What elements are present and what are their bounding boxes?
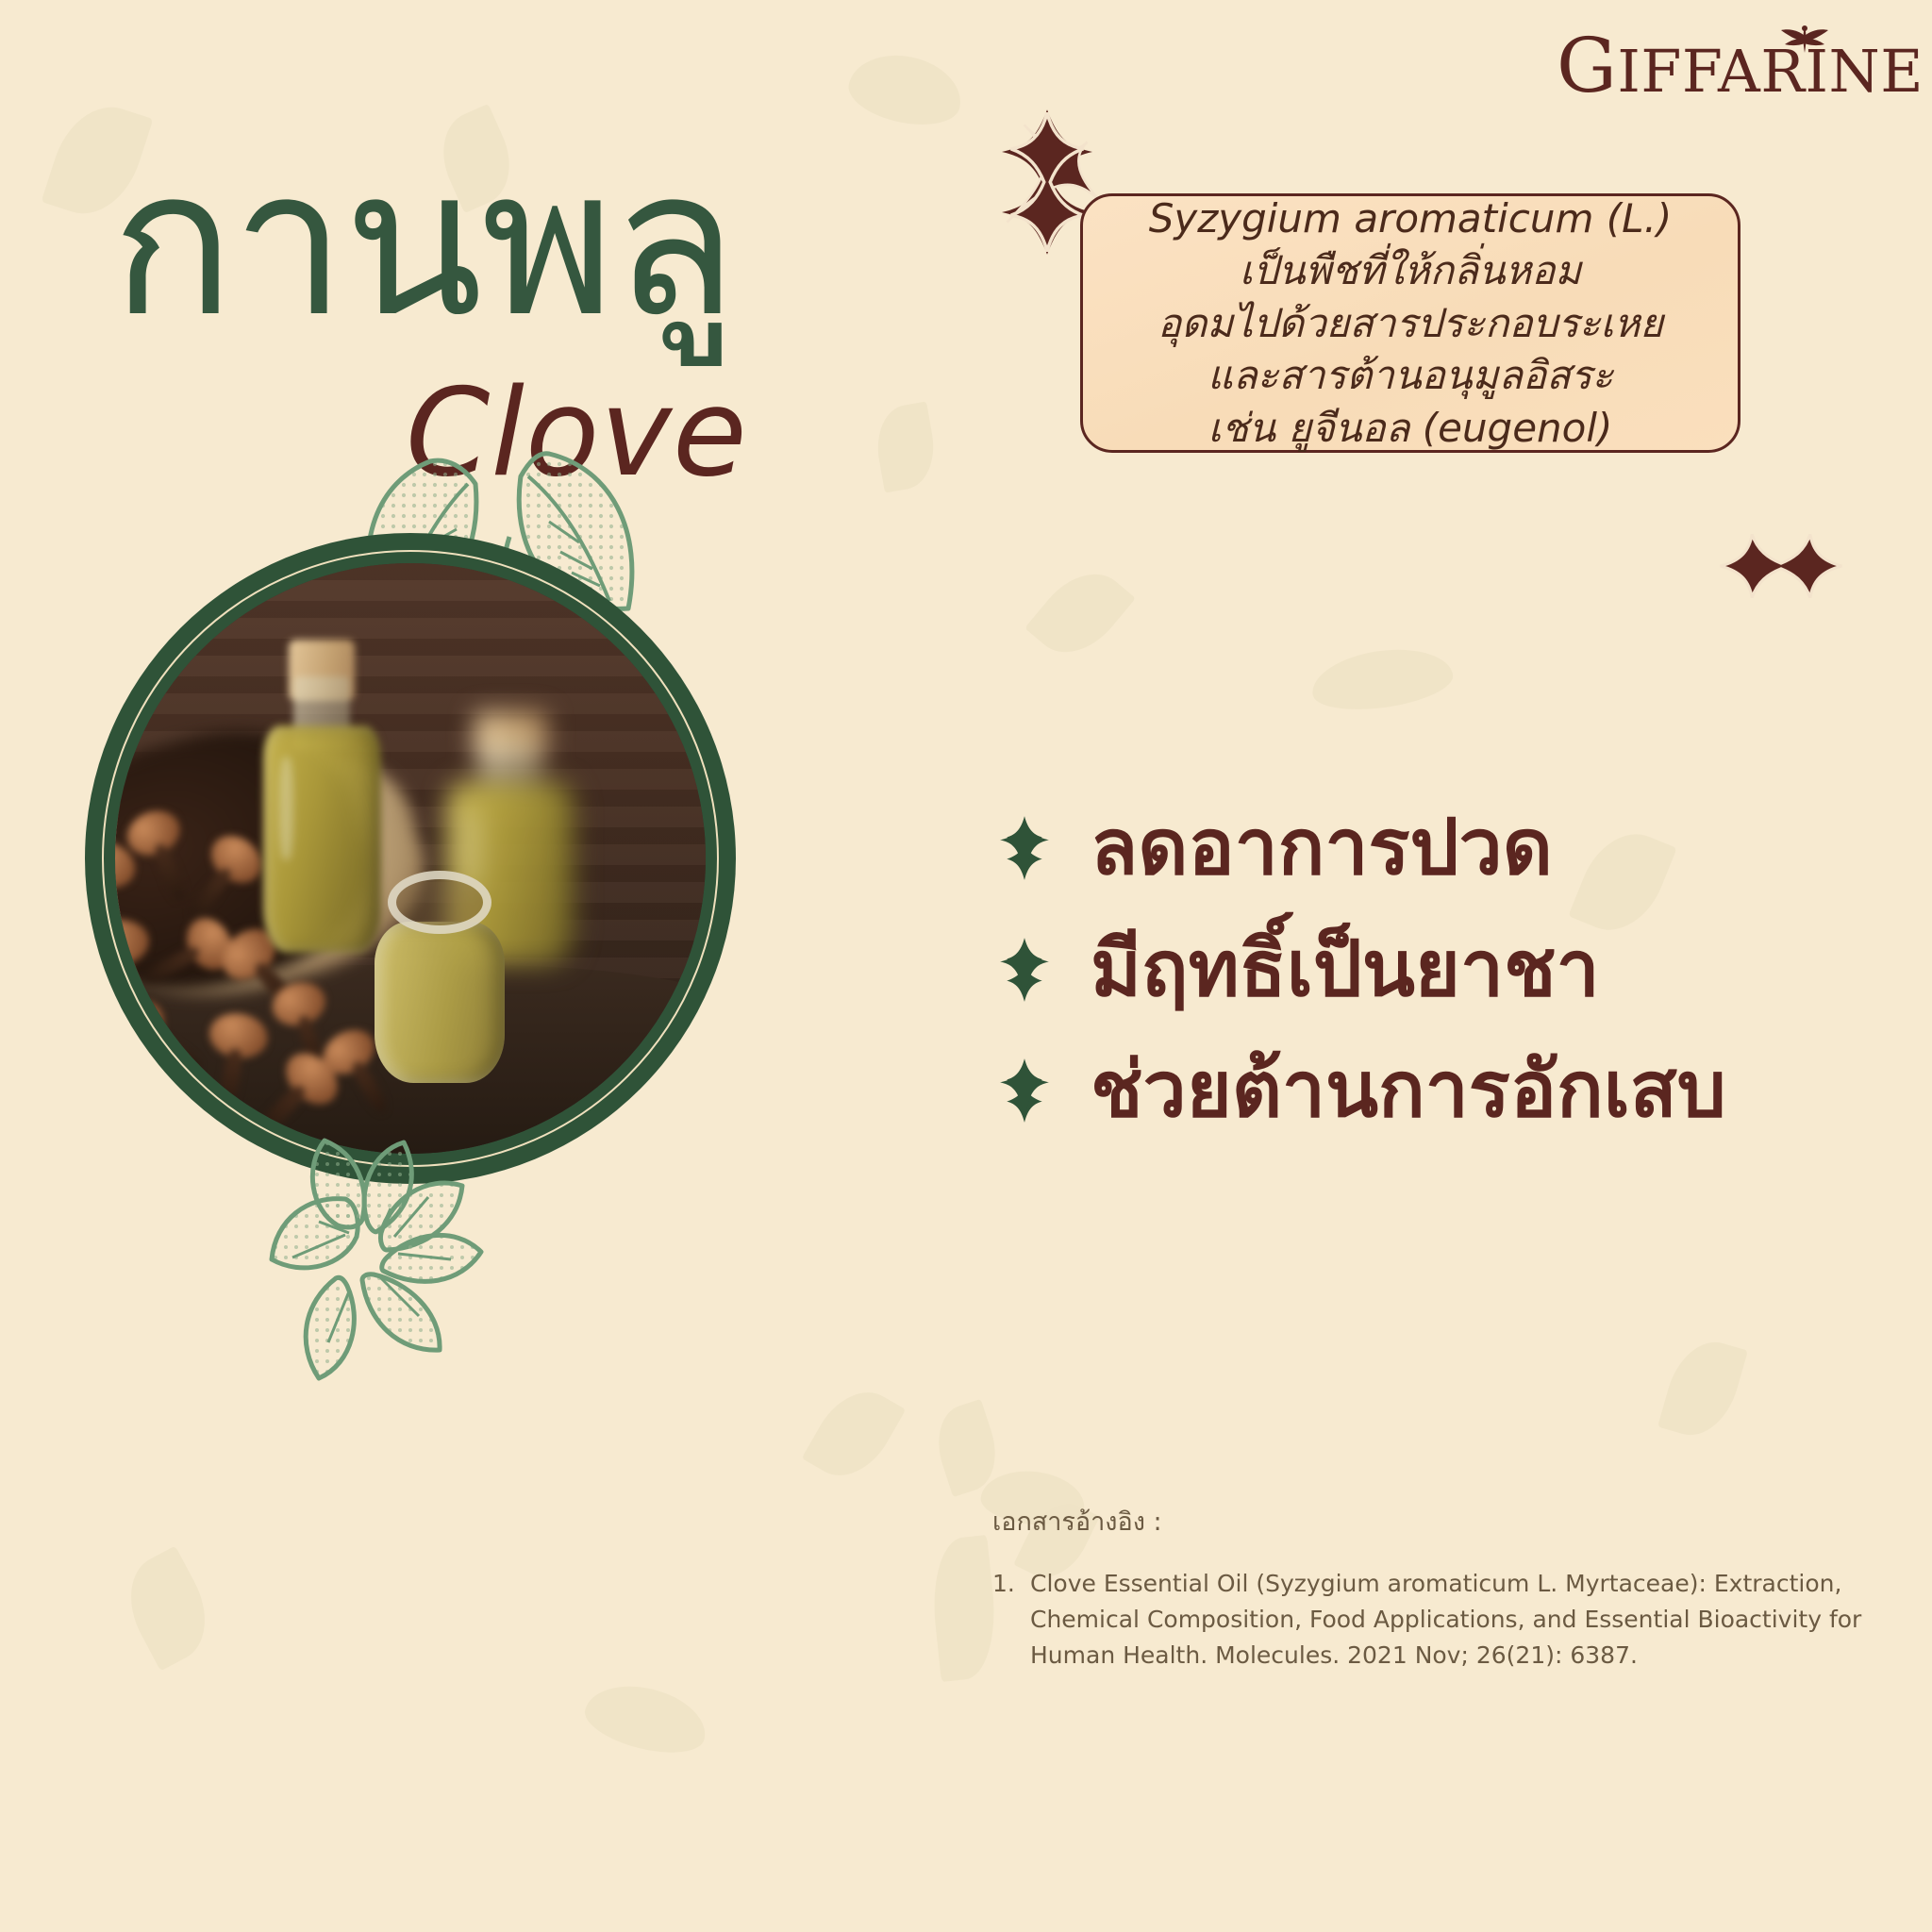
quatrefoil-bullet-icon [991, 1057, 1058, 1124]
benefits-list: ลดอาการปวด มีฤทธิ์เป็นยาชา ช่วยต้านการอั… [991, 807, 1877, 1171]
brand-name-initial: G [1557, 22, 1617, 109]
description-line-5: เช่น ยูจีนอล (eugenol) [1149, 402, 1673, 454]
quatrefoil-ornament-bottom-right [1715, 500, 1847, 632]
references-heading: เอกสารอ้างอิง : [992, 1507, 1898, 1538]
quatrefoil-bullet-icon [991, 936, 1058, 1004]
brand-name-rest: IFFARINE [1617, 37, 1924, 106]
brand-logo: GIFFARINE [1557, 28, 1877, 104]
page-title-thai: กานพลู [111, 142, 735, 344]
reference-number: 1. [992, 1566, 1030, 1674]
description-line-1: Syzygium aromaticum (L.) [1149, 192, 1673, 244]
benefit-label-3: ช่วยต้านการอักเสบ [1091, 1049, 1726, 1133]
benefit-label-1: ลดอาการปวด [1091, 807, 1553, 891]
benefit-item-1: ลดอาการปวด [991, 807, 1877, 891]
clove-flower-line-art [168, 1108, 574, 1391]
oil-jar-front [375, 871, 505, 1083]
benefit-item-2: มีฤทธิ์เป็นยาชา [991, 928, 1877, 1012]
description-panel: Syzygium aromaticum (L.) เป็นพืชที่ให้กล… [1080, 193, 1740, 453]
reference-item: 1. Clove Essential Oil (Syzygium aromati… [992, 1566, 1898, 1674]
infographic-canvas: GIFFARINE กานพลู Clove Syzygium aromatic… [0, 0, 1932, 1932]
description-line-3: อุดมไปด้วยสารประกอบระเหย [1149, 297, 1673, 349]
brand-name: GIFFARINE [1557, 28, 1924, 104]
oil-bottle-main [263, 646, 381, 954]
reference-text: Clove Essential Oil (Syzygium aromaticum… [1030, 1566, 1898, 1674]
benefit-item-3: ช่วยต้านการอักเสบ [991, 1049, 1877, 1133]
quatrefoil-bullet-icon [991, 814, 1058, 882]
description-line-2: เป็นพืชที่ให้กลิ่นหอม [1149, 244, 1673, 296]
benefit-label-2: มีฤทธิ์เป็นยาชา [1091, 928, 1600, 1012]
product-photo [115, 563, 706, 1154]
description-line-4: และสารต้านอนุมูลอิสระ [1149, 349, 1673, 401]
references-section: เอกสารอ้างอิง : 1. Clove Essential Oil (… [992, 1507, 1898, 1674]
description-text: Syzygium aromaticum (L.) เป็นพืชที่ให้กล… [1124, 192, 1697, 454]
product-photo-frame [85, 533, 736, 1184]
